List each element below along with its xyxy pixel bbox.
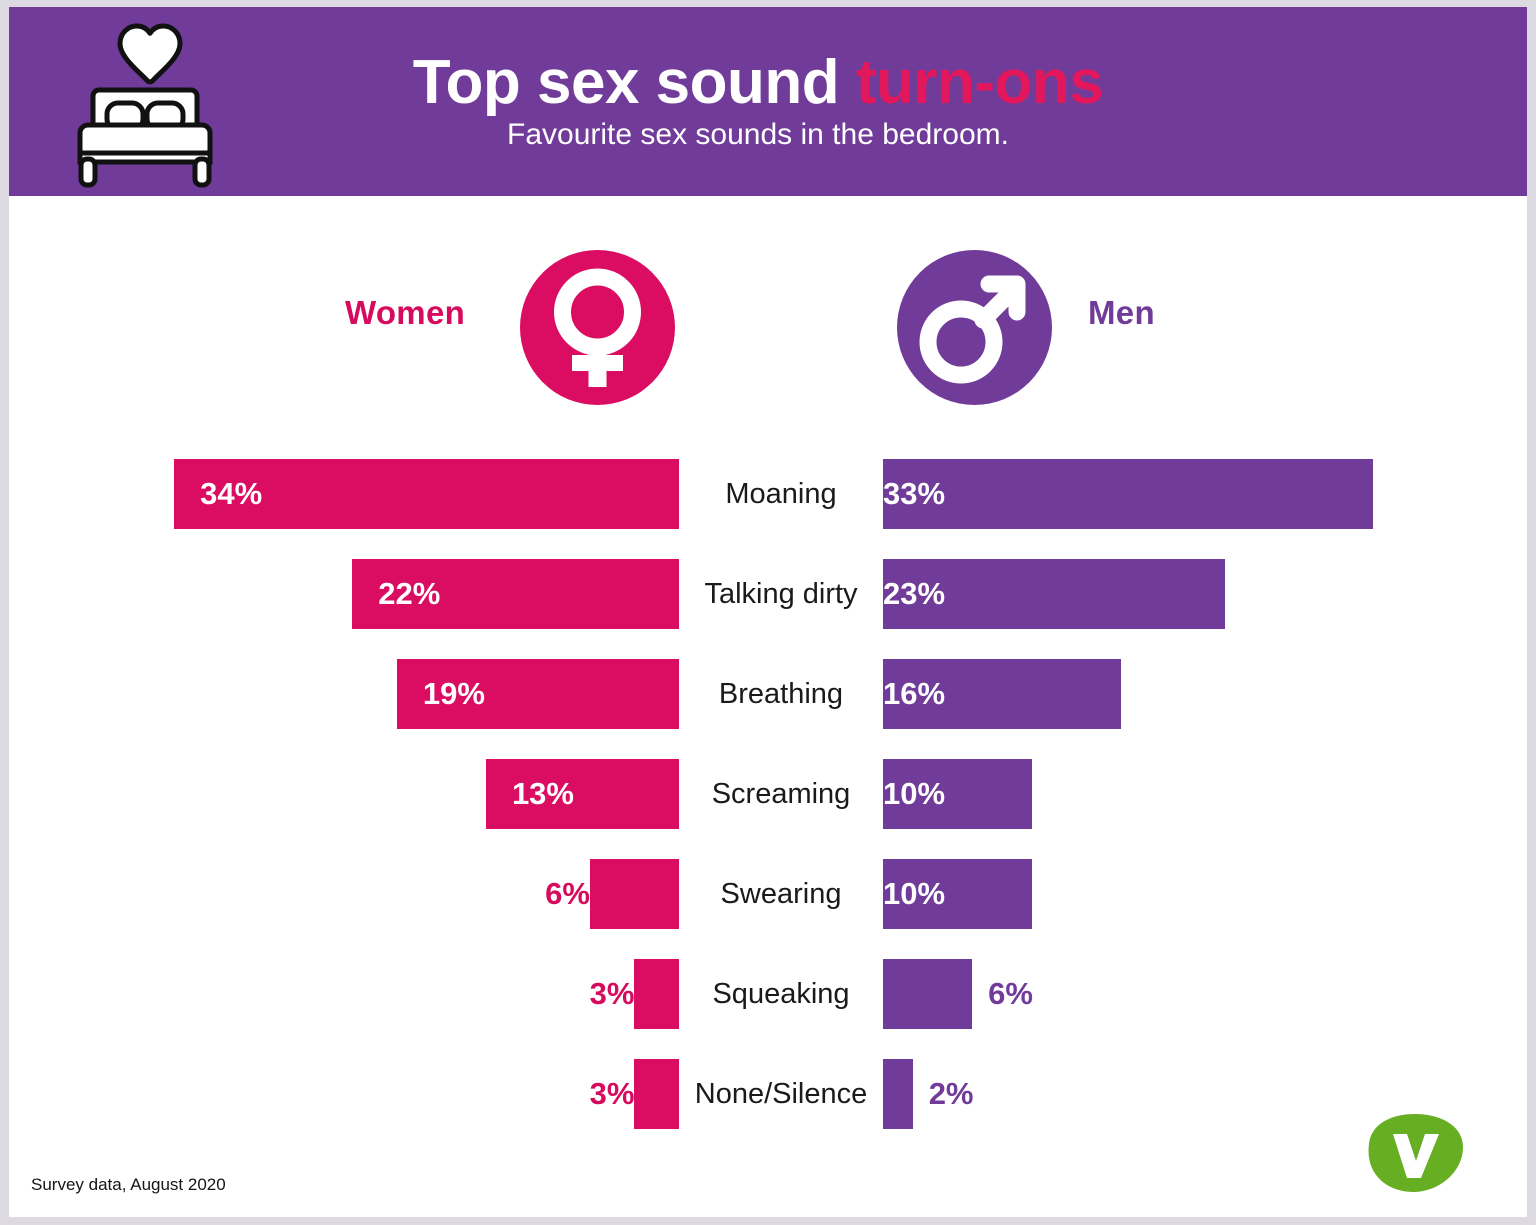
- poster-card: Top sex sound turn-ons Favourite sex sou…: [9, 7, 1527, 1217]
- chart-row: 22%Talking dirty23%: [9, 559, 1527, 629]
- chart-row: 6%Swearing10%: [9, 859, 1527, 929]
- value-label-women: 34%: [174, 459, 262, 529]
- value-label-men: 16%: [883, 659, 1145, 729]
- category-label: Breathing: [679, 659, 883, 729]
- value-label-women: 13%: [486, 759, 574, 829]
- value-label-women: 3%: [514, 1059, 650, 1129]
- category-label: Squeaking: [679, 959, 883, 1029]
- chart-row: 13%Screaming10%: [9, 759, 1527, 829]
- value-label-women: 19%: [397, 659, 485, 729]
- category-label: Swearing: [679, 859, 883, 929]
- value-label-men: 10%: [883, 859, 1056, 929]
- value-label-women: 6%: [470, 859, 606, 929]
- chart-row: 3%None/Silence2%: [9, 1059, 1527, 1129]
- chart-row: 19%Breathing16%: [9, 659, 1527, 729]
- chart-row: 34%Moaning33%: [9, 459, 1527, 529]
- bar-men-none-silence[interactable]: [883, 1059, 913, 1129]
- category-label: Talking dirty: [679, 559, 883, 629]
- chart-row: 3%Squeaking6%: [9, 959, 1527, 1029]
- value-label-men: 6%: [972, 959, 1033, 1029]
- bar-men-squeaking[interactable]: [883, 959, 972, 1029]
- value-label-men: 33%: [883, 459, 1397, 529]
- category-label: None/Silence: [679, 1059, 883, 1129]
- value-label-men: 10%: [883, 759, 1056, 829]
- diverging-bar-chart: 34%Moaning33%22%Talking dirty23%19%Breat…: [9, 7, 1527, 1217]
- category-label: Screaming: [679, 759, 883, 829]
- infographic-poster: Top sex sound turn-ons Favourite sex sou…: [0, 0, 1536, 1225]
- value-label-men: 23%: [883, 559, 1249, 629]
- value-label-women: 3%: [514, 959, 650, 1029]
- category-label: Moaning: [679, 459, 883, 529]
- v-logo[interactable]: [1357, 1112, 1465, 1194]
- value-label-men: 2%: [913, 1059, 974, 1129]
- source-note: Survey data, August 2020: [31, 1175, 226, 1195]
- value-label-women: 22%: [352, 559, 440, 629]
